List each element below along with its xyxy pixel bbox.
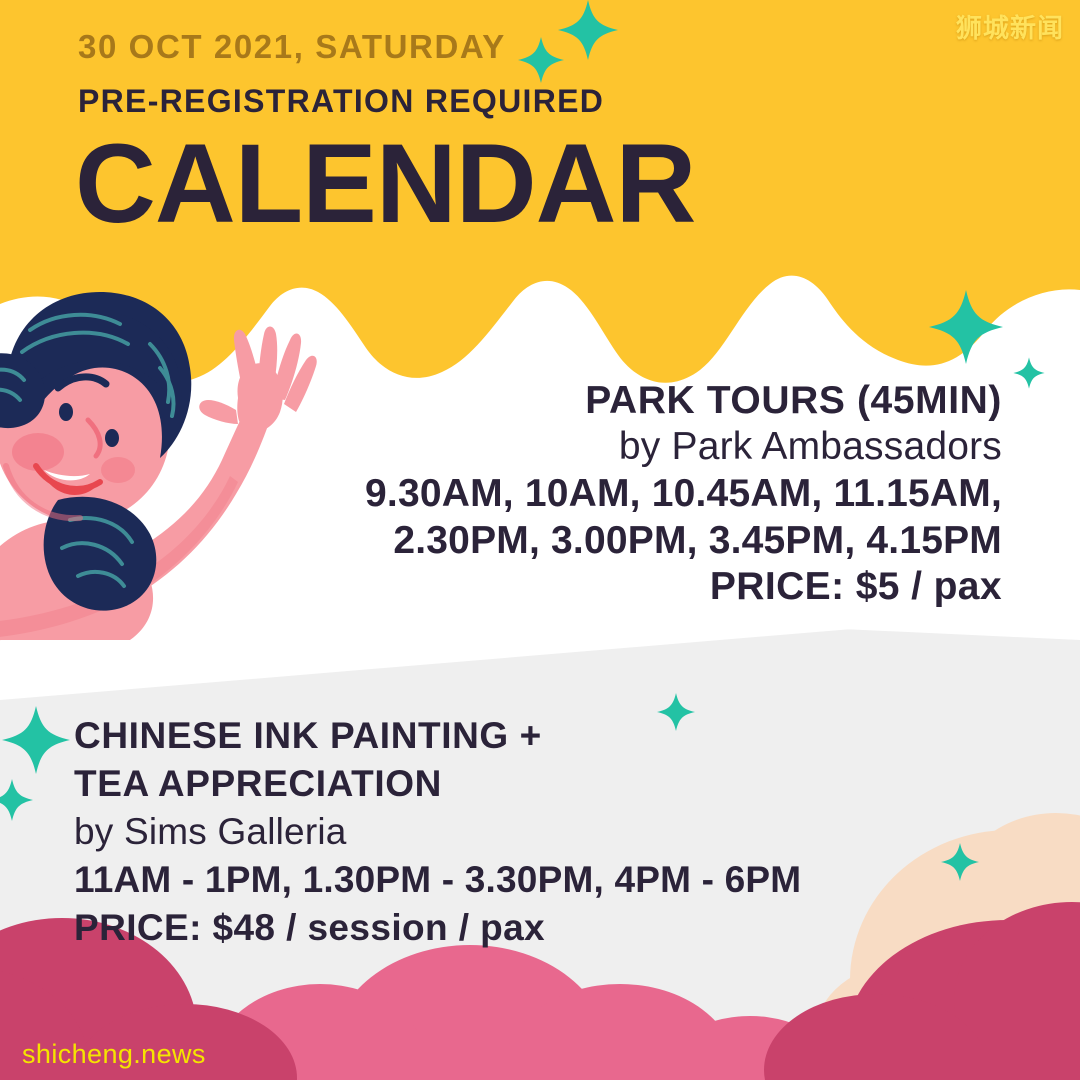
event-times-line-1: 11AM - 1PM, 1.30PM - 3.30PM, 4PM - 6PM	[74, 856, 801, 904]
event-title-line-1: CHINESE INK PAINTING +	[74, 712, 801, 760]
event-times-line-2: 2.30PM, 3.00PM, 3.45PM, 4.15PM	[365, 518, 1002, 565]
event-block-park-tours: PARK TOURS (45MIN) by Park Ambassadors 9…	[365, 378, 1002, 611]
sparkle-icon	[2, 706, 70, 774]
event-price: PRICE: $48 / session / pax	[74, 904, 801, 952]
poster-canvas: 30 OCT 2021, SATURDAY PRE-REGISTRATION R…	[0, 0, 1080, 1080]
event-date-line: 30 OCT 2021, SATURDAY	[78, 28, 506, 66]
event-title-line-2: TEA APPRECIATION	[74, 760, 801, 808]
event-organizer: by Park Ambassadors	[365, 424, 1002, 471]
sparkle-icon	[929, 290, 1003, 364]
page-title: CALENDAR	[75, 125, 695, 243]
pre-registration-notice: PRE-REGISTRATION REQUIRED	[78, 83, 604, 120]
sparkle-icon	[1013, 357, 1044, 388]
watermark-chinese: 狮城新闻	[956, 8, 1064, 45]
event-organizer: by Sims Galleria	[74, 808, 801, 856]
event-block-chinese-ink-painting: CHINESE INK PAINTING + TEA APPRECIATION …	[74, 712, 801, 952]
sparkle-icon	[941, 843, 979, 881]
sparkle-icon	[0, 779, 33, 821]
poster-header: 30 OCT 2021, SATURDAY PRE-REGISTRATION R…	[0, 0, 1080, 300]
event-title: PARK TOURS (45MIN)	[365, 378, 1002, 424]
event-price: PRICE: $5 / pax	[365, 564, 1002, 611]
watermark-site-url: shicheng.news	[22, 1039, 206, 1070]
event-times-line-1: 9.30AM, 10AM, 10.45AM, 11.15AM,	[365, 471, 1002, 518]
